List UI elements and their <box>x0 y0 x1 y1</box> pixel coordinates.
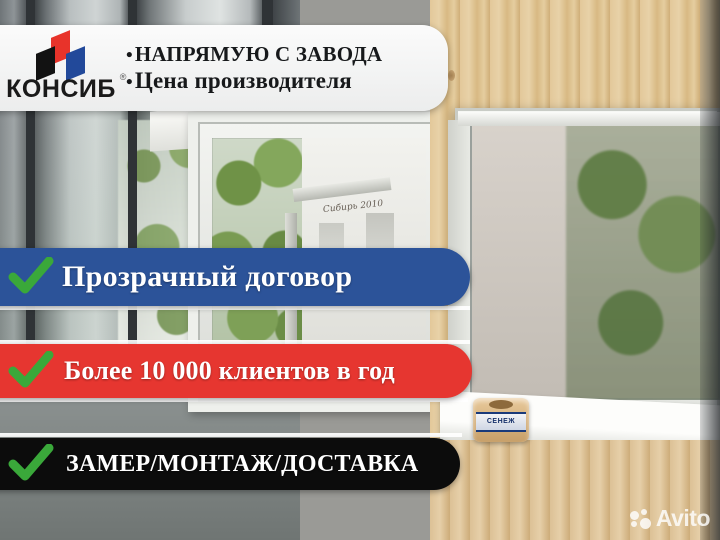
tape-label: СЕНЕЖ <box>476 412 526 432</box>
brand-name-text: КОНСИБ <box>6 75 116 103</box>
banner-separator <box>0 433 462 437</box>
tape-core <box>489 400 513 409</box>
feature-bar-clients-label: Более 10 000 клиентов в год <box>54 356 395 386</box>
logo-rhombus-icon <box>30 34 92 76</box>
bullet-text-1: НАПРЯМУЮ С ЗАВОДА <box>135 42 382 66</box>
avito-wordmark: Avito <box>656 505 710 532</box>
advertisement-image: Сибирь 2010 СЕНЕЖ <box>0 0 720 540</box>
check-icon <box>8 351 54 391</box>
banner-separator <box>0 398 468 402</box>
top-banner-bullet-list: •НАПРЯМУЮ С ЗАВОДА •Цена производителя <box>120 42 448 95</box>
banner-separator <box>0 306 470 310</box>
wood-knot <box>448 70 455 81</box>
top-banner: КОНСИБ ® •НАПРЯМУЮ С ЗАВОДА •Цена произв… <box>0 25 448 111</box>
registered-mark-icon: ® <box>120 73 127 82</box>
trees-through-blind <box>566 124 720 400</box>
check-icon <box>8 257 54 297</box>
avito-dot <box>640 518 651 529</box>
bullet-text-2: Цена производителя <box>135 68 352 93</box>
feature-bar-contract-label: Прозрачный договор <box>54 260 352 294</box>
brand-name: КОНСИБ ® <box>6 77 116 102</box>
avito-watermark: Avito <box>630 505 710 532</box>
feature-bar-clients: Более 10 000 клиентов в год <box>0 344 472 398</box>
avito-dots-icon <box>630 509 652 529</box>
roller-blind <box>470 124 720 400</box>
feature-bar-service-label: ЗАМЕР/МОНТАЖ/ДОСТАВКА <box>54 451 418 478</box>
bullet-marker-icon: • <box>126 45 133 66</box>
bullet-item-2: •Цена производителя <box>126 67 448 94</box>
bullet-marker-icon: • <box>126 72 133 93</box>
feature-bar-contract: Прозрачный договор <box>0 248 470 306</box>
photo-edge-shadow <box>700 0 720 540</box>
roller-blind-rail <box>458 112 720 126</box>
avito-dot <box>630 511 639 520</box>
avito-dot <box>631 521 637 527</box>
check-icon <box>8 444 54 484</box>
feature-bar-service: ЗАМЕР/МОНТАЖ/ДОСТАВКА <box>0 438 460 490</box>
avito-dot <box>641 509 647 515</box>
bullet-item-1: •НАПРЯМУЮ С ЗАВОДА <box>126 42 448 67</box>
tape-roll: СЕНЕЖ <box>473 398 529 442</box>
brand-logo: КОНСИБ ® <box>2 34 120 102</box>
